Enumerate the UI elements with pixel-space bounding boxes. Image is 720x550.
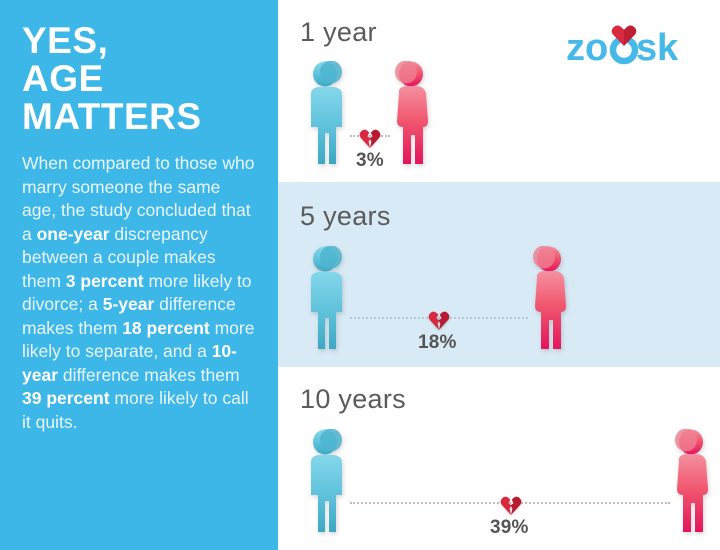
percent-label-3: 39%	[490, 517, 529, 539]
broken-heart-icon	[428, 310, 450, 331]
emphasis-text: 5-year	[103, 294, 155, 314]
panel-heading-1: 1 year	[300, 18, 377, 46]
male-figure-icon	[300, 429, 354, 536]
percent-label-1: 3%	[356, 150, 384, 172]
panel-5-years: 5 years	[278, 182, 720, 367]
zoosk-logo[interactable]: z o s k	[566, 26, 698, 66]
panel-10-years: 10 years	[278, 367, 720, 550]
female-figure-icon	[384, 61, 438, 168]
panel-heading-2: 5 years	[300, 202, 391, 230]
svg-text:z: z	[566, 27, 584, 66]
svg-text:s: s	[636, 27, 656, 66]
body-text: difference makes them	[58, 365, 240, 385]
zoosk-logo-mark: z o s k	[566, 20, 698, 66]
intro-paragraph: When compared to those who marry someone…	[22, 152, 258, 434]
page-title: YES, AGE MATTERS	[22, 22, 258, 136]
svg-text:k: k	[657, 27, 679, 66]
svg-text:o: o	[585, 27, 607, 66]
emphasis-text: 39 percent	[22, 388, 110, 408]
left-intro-panel: YES, AGE MATTERS When compared to those …	[0, 0, 278, 550]
emphasis-text: 18 percent	[122, 318, 210, 338]
panel-heading-3: 10 years	[300, 385, 406, 413]
male-figure-icon	[300, 246, 354, 353]
infographic-root: YES, AGE MATTERS When compared to those …	[0, 0, 720, 550]
percent-label-2: 18%	[418, 332, 457, 354]
female-figure-icon	[522, 246, 576, 353]
emphasis-text: 3 percent	[66, 271, 144, 291]
panel-stack: 1 year	[278, 0, 720, 550]
female-figure-icon	[664, 429, 718, 536]
emphasis-text: one-year	[37, 224, 110, 244]
broken-heart-icon	[359, 128, 381, 149]
broken-heart-icon	[500, 495, 522, 516]
male-figure-icon	[300, 61, 354, 168]
